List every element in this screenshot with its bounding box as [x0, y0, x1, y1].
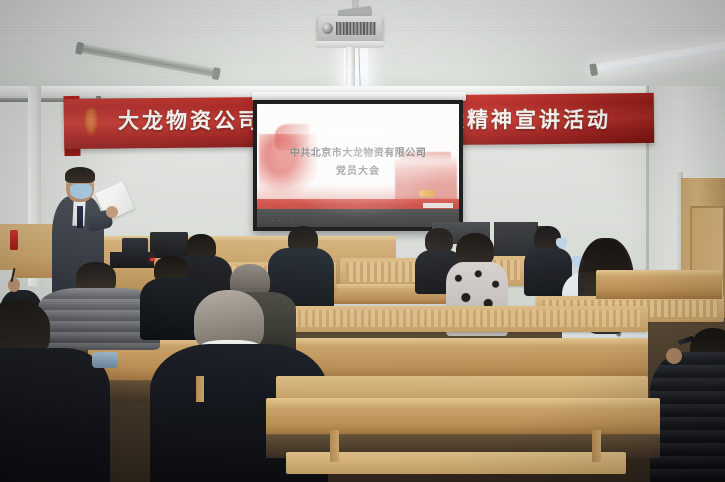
desk-face [596, 277, 722, 299]
mobile-phone-icon [92, 352, 118, 368]
person-torso [0, 348, 110, 482]
projection-screen-surface: 中共北京市大龙物资有限公司 党员大会 · · · · · [257, 104, 459, 227]
computer-monitor-icon [150, 232, 188, 258]
speaker-hair [65, 167, 95, 183]
slide-title-line-1: 中共北京市大龙物资有限公司 [257, 144, 459, 159]
desk-leg [330, 430, 339, 462]
slide-vehicle-graphic [419, 190, 435, 197]
person-face-mask-icon [556, 238, 567, 248]
fire-extinguisher-icon [10, 230, 18, 250]
person-hand [666, 348, 682, 364]
banner-text-right: 大精神宣讲活动 [443, 110, 611, 131]
control-box [110, 252, 154, 268]
bench-back [276, 376, 648, 400]
projector-vents [336, 22, 376, 35]
slide-corner-tag [423, 203, 453, 208]
speaker-hand [106, 206, 118, 218]
meeting-room-photo: 大龙物资公司宣 大精神宣讲活动 中共北京市大龙物资有限公司 党员大会 · · ·… [0, 0, 725, 482]
desk-leg [196, 376, 204, 402]
speaker-tie [77, 206, 83, 228]
speaker-face-mask-icon [70, 184, 92, 199]
slide-footer-text: · · · · · [265, 218, 294, 223]
slide-title-line-2: 党员大会 [257, 162, 459, 177]
desk-leg [592, 430, 601, 462]
person-black-puffer [650, 352, 725, 482]
status-led-icon [150, 258, 155, 261]
banner-emblem-icon [84, 108, 98, 136]
projector-lens-icon [322, 23, 333, 34]
